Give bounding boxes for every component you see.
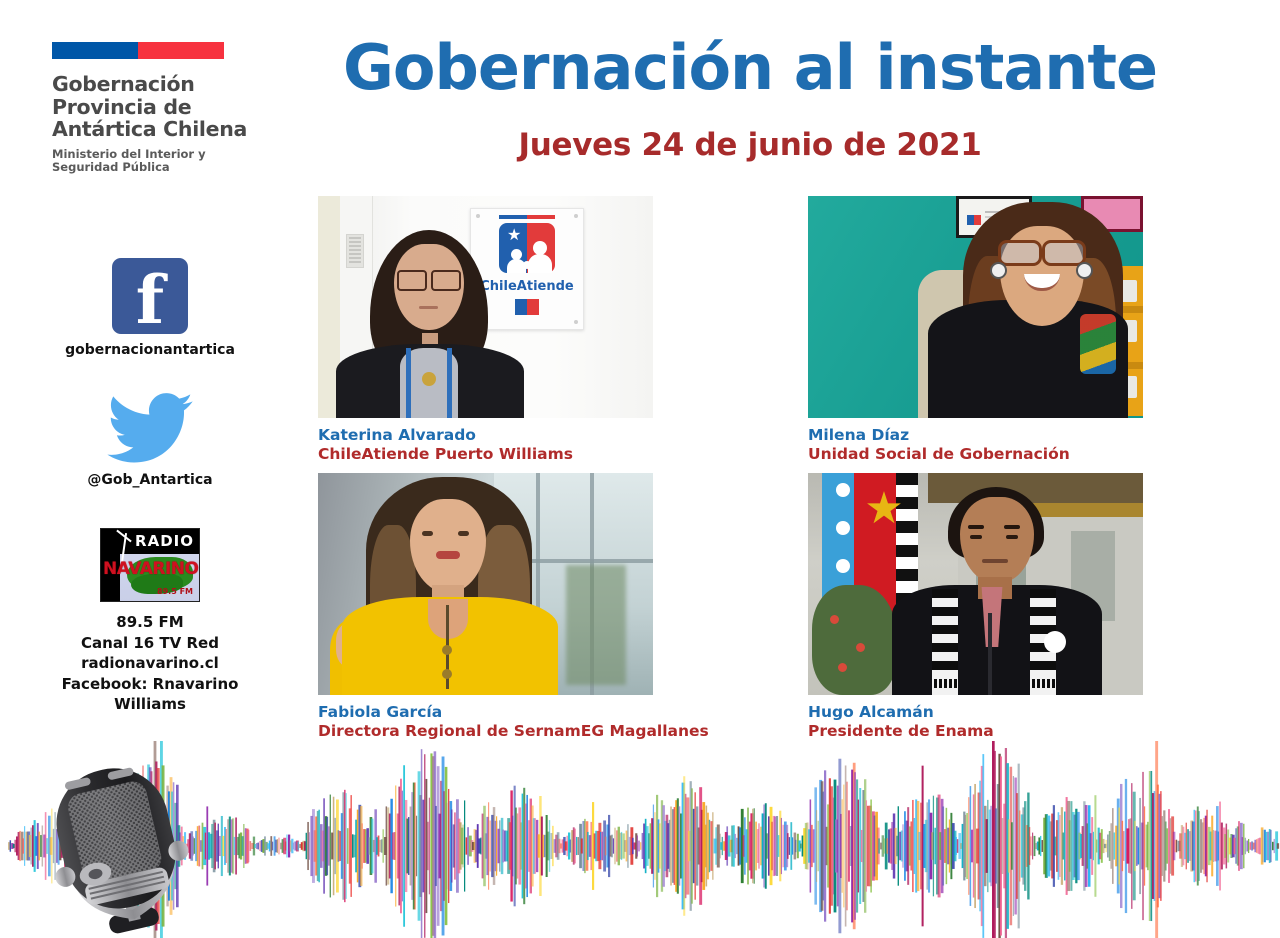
flag-red-half xyxy=(138,42,224,59)
government-logo: Gobernación Provincia de Antártica Chile… xyxy=(52,42,272,174)
guest-card-4: ★ Hugo Alcamán Preside xyxy=(808,473,1143,741)
logo-title: Gobernación Provincia de Antártica Chile… xyxy=(52,73,272,141)
ministry-line2: Seguridad Pública xyxy=(52,161,272,174)
guest-caption-2: Milena Díaz Unidad Social de Gobernación xyxy=(808,426,1143,464)
ministry-line1: Ministerio del Interior y xyxy=(52,148,272,161)
sign-text: ChileAtiende xyxy=(471,279,583,294)
logo-title-line1: Gobernación xyxy=(52,73,272,96)
page-date: Jueves 24 de junio de 2021 xyxy=(300,128,1200,162)
flag-blue-half xyxy=(52,42,138,59)
guest-card-2: Milena Díaz Unidad Social de Gobernación xyxy=(808,196,1143,464)
radio-logo-word: RADIO xyxy=(135,532,194,550)
guest-photo-2 xyxy=(808,196,1143,418)
guest-card-3: Fabiola García Directora Regional de Ser… xyxy=(318,473,709,741)
guest-name-2: Milena Díaz xyxy=(808,426,1143,445)
facebook-handle: gobernacionantartica xyxy=(0,342,300,358)
radio-line-2: radionavarino.cl xyxy=(0,653,300,674)
logo-ministry: Ministerio del Interior y Seguridad Públ… xyxy=(52,148,272,174)
navarino-logo-word: NAVARINO xyxy=(103,559,199,579)
guest-name-4: Hugo Alcamán xyxy=(808,703,1143,722)
guest-role-2: Unidad Social de Gobernación xyxy=(808,445,1143,464)
guest-photo-1: ★ ChileAtiende xyxy=(318,196,653,418)
guest-photo-3 xyxy=(318,473,653,695)
twitter-block[interactable]: @Gob_Antartica xyxy=(0,392,300,488)
guest-card-1: ★ ChileAtiende xyxy=(318,196,653,464)
radio-info: 89.5 FM Canal 16 TV Red radionavarino.cl… xyxy=(0,612,300,715)
radio-block: RADIO NAVARINO 89.5 FM 89.5 FM Canal 16 … xyxy=(0,528,300,715)
page-title: Gobernación al instante xyxy=(300,36,1200,100)
guest-caption-1: Katerina Alvarado ChileAtiende Puerto Wi… xyxy=(318,426,653,464)
poster-canvas: Gobernación Provincia de Antártica Chile… xyxy=(0,0,1280,938)
twitter-handle: @Gob_Antartica xyxy=(0,472,300,488)
radio-line-1: Canal 16 TV Red xyxy=(0,633,300,654)
radio-line-4: Williams xyxy=(0,694,300,715)
radio-line-3: Facebook: Rnavarino xyxy=(0,674,300,695)
radio-navarino-logo: RADIO NAVARINO 89.5 FM xyxy=(100,528,200,602)
facebook-block[interactable]: f gobernacionantartica xyxy=(0,258,300,358)
facebook-icon[interactable]: f xyxy=(112,258,188,334)
logo-title-line2: Provincia de xyxy=(52,96,272,119)
radio-logo-freq: 89.5 FM xyxy=(157,587,193,596)
guest-name-3: Fabiola García xyxy=(318,703,709,722)
logo-title-line3: Antártica Chilena xyxy=(52,118,272,141)
vintage-microphone-icon xyxy=(18,728,218,938)
guest-name-1: Katerina Alvarado xyxy=(318,426,653,445)
twitter-bird-icon[interactable] xyxy=(107,392,193,464)
guest-role-1: ChileAtiende Puerto Williams xyxy=(318,445,653,464)
radio-line-0: 89.5 FM xyxy=(0,612,300,633)
chile-flag-bar-icon xyxy=(52,42,224,59)
guest-photo-4: ★ xyxy=(808,473,1143,695)
